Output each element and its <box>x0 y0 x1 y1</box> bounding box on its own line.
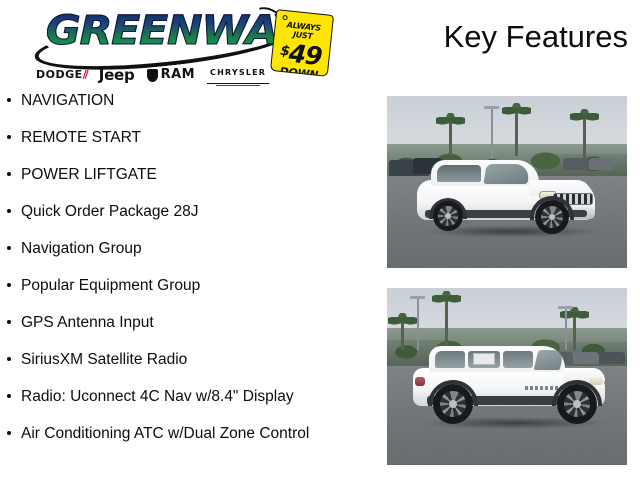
vehicle-side-window <box>437 165 481 182</box>
bullet-icon <box>7 394 11 398</box>
feature-label: NAVIGATION <box>21 92 114 109</box>
list-item: POWER LIFTGATE <box>0 164 372 186</box>
list-item: GPS Antenna Input <box>0 312 372 334</box>
vehicle-wheel-hub <box>449 400 457 408</box>
bullet-icon <box>7 320 11 324</box>
vehicle-jeep-compass-side <box>413 346 605 426</box>
brand-dodge-slash-icon: // <box>83 68 87 81</box>
feature-label: Air Conditioning ATC w/Dual Zone Control <box>21 425 309 442</box>
vehicle-photo-front-three-quarter <box>387 96 627 268</box>
page-title: Key Features <box>444 18 628 56</box>
feature-label: POWER LIFTGATE <box>21 166 157 183</box>
bullet-icon <box>7 283 11 287</box>
bullet-icon <box>7 135 11 139</box>
brand-logo-row: DODGE// Jeep RAM CHRYSLER <box>36 66 316 84</box>
slide-header: GREENWAY ALWAYS JUST $49 DOWN DODGE// Je… <box>0 0 640 88</box>
bullet-icon <box>7 431 11 435</box>
vehicle-jeep-compass-front <box>417 160 595 234</box>
bullet-icon <box>7 172 11 176</box>
bullet-icon <box>7 209 11 213</box>
photo-palm-tree <box>573 316 576 350</box>
brand-ram-label: RAM <box>161 66 196 84</box>
vehicle-wheel <box>433 384 473 424</box>
feature-label: Radio: Uconnect 4C Nav w/8.4" Display <box>21 388 294 405</box>
chrysler-wings-shadow-icon <box>216 85 260 86</box>
vehicle-photo-side-profile <box>387 288 627 465</box>
bullet-icon <box>7 246 11 250</box>
photo-palm-tree <box>449 122 452 156</box>
list-item: SiriusXM Satellite Radio <box>0 349 372 371</box>
bullet-icon <box>7 357 11 361</box>
vehicle-wheel <box>535 200 569 234</box>
photo-light-pole <box>491 108 493 158</box>
vehicle-windshield <box>534 350 565 370</box>
list-item: Navigation Group <box>0 238 372 260</box>
vehicle-wheel-hub <box>445 213 451 219</box>
vehicle-side-window <box>503 351 533 368</box>
brand-dodge-label: DODGE <box>36 68 83 81</box>
photo-palm-tree <box>401 322 404 350</box>
list-item: Radio: Uconnect 4C Nav w/8.4" Display <box>0 386 372 408</box>
vehicle-wheel-hub <box>573 400 581 408</box>
brand-logo-dodge: DODGE// <box>36 66 87 84</box>
feature-label: REMOTE START <box>21 129 141 146</box>
vehicle-taillight <box>415 377 425 386</box>
key-features-list: NAVIGATION REMOTE START POWER LIFTGATE Q… <box>0 90 372 460</box>
photo-light-pole <box>565 308 567 350</box>
brand-chrysler-label: CHRYSLER <box>207 64 269 82</box>
vehicle-rear-window <box>435 351 465 368</box>
photo-palm-tree <box>583 118 586 158</box>
vehicle-window-sticker <box>473 353 495 365</box>
photo-palm-tree <box>515 112 518 156</box>
list-item: REMOTE START <box>0 127 372 149</box>
photo-palm-tree <box>445 300 448 348</box>
photo-light-pole <box>417 298 419 350</box>
ram-head-icon <box>147 69 158 82</box>
list-item: Quick Order Package 28J <box>0 201 372 223</box>
list-item: Popular Equipment Group <box>0 275 372 297</box>
brand-logo-chrysler: CHRYSLER <box>207 64 269 87</box>
feature-label: SiriusXM Satellite Radio <box>21 351 187 368</box>
feature-label: Popular Equipment Group <box>21 277 200 294</box>
feature-label: Quick Order Package 28J <box>21 203 198 220</box>
dealer-logo: GREENWAY ALWAYS JUST $49 DOWN DODGE// Je… <box>18 6 336 86</box>
vehicle-wheel <box>557 384 597 424</box>
feature-label: Navigation Group <box>21 240 142 257</box>
list-item: NAVIGATION <box>0 90 372 112</box>
vehicle-windshield <box>483 164 530 184</box>
chrysler-wings-icon <box>207 83 269 85</box>
bullet-icon <box>7 98 11 102</box>
brand-logo-jeep: Jeep <box>99 66 135 84</box>
vehicle-wheel <box>433 201 463 231</box>
brand-logo-ram: RAM <box>147 66 196 84</box>
feature-label: GPS Antenna Input <box>21 314 154 331</box>
list-item: Air Conditioning ATC w/Dual Zone Control <box>0 423 372 445</box>
